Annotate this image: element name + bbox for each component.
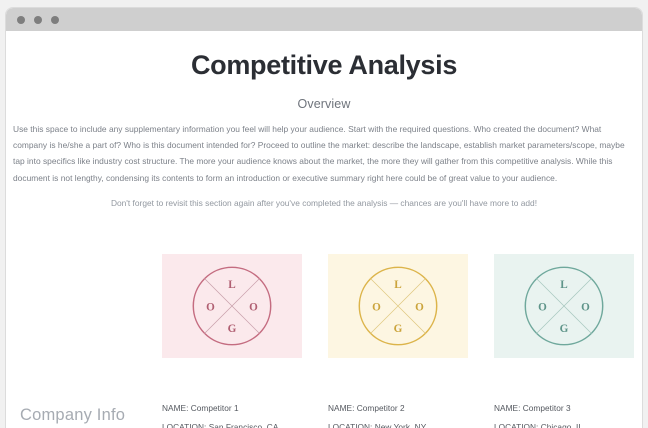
company-info-column-1: NAME: Competitor 1 LOCATION: San Francis… bbox=[162, 396, 302, 428]
competitor-1-logo-icon: L O G O bbox=[189, 263, 275, 349]
competitor-3-name: NAME: Competitor 3 bbox=[494, 399, 634, 418]
minimize-window-icon[interactable] bbox=[34, 16, 42, 24]
section-subtitle: Overview bbox=[6, 97, 642, 111]
logo-letter-left: O bbox=[538, 301, 547, 313]
logo-letter-right: O bbox=[581, 301, 590, 313]
browser-window: Competitive Analysis Overview Use this s… bbox=[6, 8, 642, 428]
logo-letter-top: L bbox=[394, 279, 401, 291]
company-info-column-3: NAME: Competitor 3 LOCATION: Chicago, IL… bbox=[494, 396, 634, 428]
company-info-columns: NAME: Competitor 1 LOCATION: San Francis… bbox=[162, 396, 634, 428]
maximize-window-icon[interactable] bbox=[51, 16, 59, 24]
logo-letter-left: O bbox=[372, 301, 381, 313]
company-info-column-2: NAME: Competitor 2 LOCATION: New York, N… bbox=[328, 396, 468, 428]
logo-letter-top: L bbox=[560, 279, 567, 291]
logo-letter-right: O bbox=[415, 301, 424, 313]
company-info-label: Company Info bbox=[20, 406, 125, 425]
logo-card-competitor-3: L O G O bbox=[494, 254, 634, 358]
close-window-icon[interactable] bbox=[17, 16, 25, 24]
competitor-2-logo-icon: L O G O bbox=[355, 263, 441, 349]
competitor-1-name: NAME: Competitor 1 bbox=[162, 399, 302, 418]
logo-letter-left: O bbox=[206, 301, 215, 313]
window-titlebar bbox=[6, 8, 642, 31]
logo-letter-bottom: G bbox=[560, 323, 569, 335]
competitor-2-name: NAME: Competitor 2 bbox=[328, 399, 468, 418]
logo-card-competitor-1: L O G O bbox=[162, 254, 302, 358]
page-title: Competitive Analysis bbox=[6, 51, 642, 81]
revisit-note: Don't forget to revisit this section aga… bbox=[13, 196, 635, 212]
document-canvas: Competitive Analysis Overview Use this s… bbox=[6, 51, 642, 428]
logo-letter-top: L bbox=[228, 279, 235, 291]
logo-letter-bottom: G bbox=[228, 323, 237, 335]
overview-paragraph: Use this space to include any supplement… bbox=[13, 121, 635, 187]
logo-letter-bottom: G bbox=[394, 323, 403, 335]
logo-letter-right: O bbox=[249, 301, 258, 313]
logo-card-competitor-2: L O G O bbox=[328, 254, 468, 358]
competitor-3-logo-icon: L O G O bbox=[521, 263, 607, 349]
logo-card-list: L O G O L O G O bbox=[6, 254, 642, 358]
company-info-section: Company Info NAME: Competitor 1 LOCATION… bbox=[6, 396, 642, 428]
